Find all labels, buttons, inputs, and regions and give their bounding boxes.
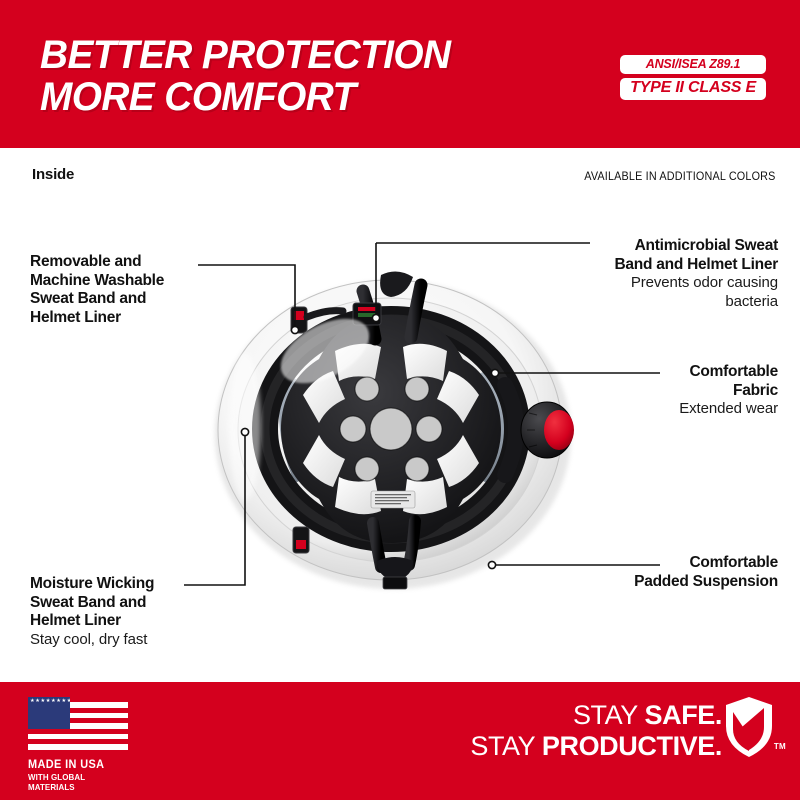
tagline-line-1: STAY SAFE. (470, 700, 722, 731)
leader-dot-fabric (491, 369, 498, 376)
callout-moisture-title: Moisture Wicking Sweat Band and Helmet L… (30, 575, 245, 631)
callout-moisture: Moisture Wicking Sweat Band and Helmet L… (30, 575, 245, 649)
callout-fabric: Comfortable Fabric Extended wear (598, 363, 778, 419)
callout-antimicrobial: Antimicrobial Sweat Band and Helmet Line… (573, 237, 778, 311)
callout-fabric-subtitle: Extended wear (598, 400, 778, 419)
callout-moisture-subtitle: Stay cool, dry fast (30, 631, 245, 650)
footer-banner: ★★★★★★★★★★★★★★★★★★★★★★★★★★★★★★★★★★★★★★★★… (0, 682, 800, 800)
callout-antimicrobial-subtitle: Prevents odor causing bacteria (573, 274, 778, 311)
shield-icon (724, 696, 774, 758)
trademark-mark: TM (774, 742, 786, 751)
leader-dot-antimicrobial (372, 314, 379, 321)
tagline-2-bold: PRODUCTIVE. (542, 731, 722, 761)
made-in-usa-badge: ★★★★★★★★★★★★★★★★★★★★★★★★★★★★★★★★★★★★★★★★… (28, 697, 132, 792)
tagline-1-bold: SAFE. (644, 700, 722, 730)
callout-fabric-title: Comfortable Fabric (598, 363, 778, 400)
tagline-line-2: STAY PRODUCTIVE. (470, 731, 722, 762)
infographic-page: BETTER PROTECTION MORE COMFORT ANSI/ISEA… (0, 0, 800, 800)
brand-tagline: STAY SAFE. STAY PRODUCTIVE. (470, 700, 722, 762)
made-in-usa-line2: WITH GLOBAL MATERIALS (28, 772, 127, 792)
tagline-2-light: STAY (470, 731, 542, 761)
tagline-1-light: STAY (573, 700, 645, 730)
callout-suspension: Comfortable Padded Suspension (593, 554, 778, 591)
usa-flag-icon: ★★★★★★★★★★★★★★★★★★★★★★★★★★★★★★★★★★★★★★★★… (28, 697, 128, 755)
callout-removable-title: Removable and Machine Washable Sweat Ban… (30, 253, 240, 327)
callout-suspension-title: Comfortable Padded Suspension (593, 554, 778, 591)
callout-removable: Removable and Machine Washable Sweat Ban… (30, 253, 240, 327)
made-in-usa-line1: MADE IN USA (28, 759, 127, 771)
leader-dot-suspension (488, 561, 495, 568)
leader-dot-moisture (241, 428, 248, 435)
leader-dot-removable (291, 326, 298, 333)
callout-antimicrobial-title: Antimicrobial Sweat Band and Helmet Line… (573, 237, 778, 274)
leader-moisture (184, 432, 245, 585)
flag-stars: ★★★★★★★★★★★★★★★★★★★★★★★★★★★★★★★★★★★★★★★★… (28, 697, 70, 729)
